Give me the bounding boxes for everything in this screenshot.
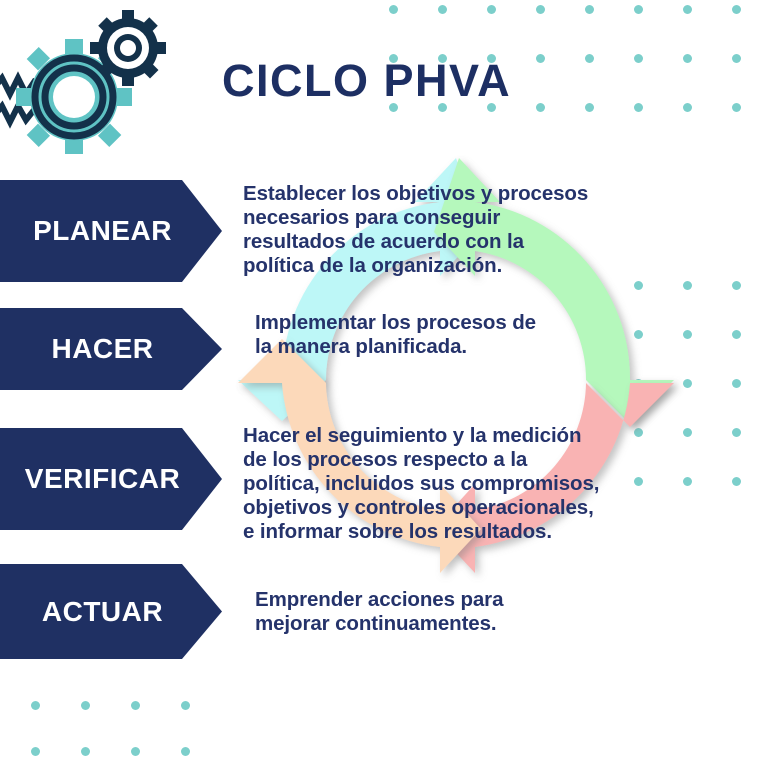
decorative-dot bbox=[634, 54, 643, 63]
decorative-dot bbox=[487, 5, 496, 14]
decorative-dot bbox=[81, 701, 90, 710]
decorative-dot bbox=[536, 54, 545, 63]
decorative-dot bbox=[585, 54, 594, 63]
decorative-dot bbox=[683, 103, 692, 112]
stage-label-hacer: HACER bbox=[0, 333, 205, 365]
decorative-dot bbox=[732, 103, 741, 112]
decorative-dot bbox=[31, 747, 40, 756]
decorative-dot bbox=[732, 54, 741, 63]
stage-banner-planear[interactable]: PLANEAR bbox=[0, 180, 222, 282]
infographic-canvas: CICLO PHVA PLANEAR HACER VERIFICAR ACTUA… bbox=[0, 0, 768, 768]
decorative-dot bbox=[81, 747, 90, 756]
stage-description-verificar: Hacer el seguimiento y la medición de lo… bbox=[243, 424, 599, 544]
decorative-dot bbox=[389, 5, 398, 14]
decorative-dot bbox=[683, 5, 692, 14]
stage-description-planear: Establecer los objetivos y procesos nece… bbox=[243, 182, 588, 278]
dot-grid-bottom-left bbox=[31, 701, 231, 768]
stage-label-planear: PLANEAR bbox=[0, 215, 205, 247]
gears-logo bbox=[0, 4, 179, 154]
decorative-dot bbox=[536, 103, 545, 112]
decorative-dot bbox=[585, 5, 594, 14]
decorative-dot bbox=[181, 747, 190, 756]
decorative-dot bbox=[732, 5, 741, 14]
decorative-dot bbox=[536, 5, 545, 14]
decorative-dot bbox=[732, 428, 741, 437]
decorative-dot bbox=[732, 330, 741, 339]
stage-description-actuar: Emprender acciones para mejorar continua… bbox=[255, 588, 503, 636]
decorative-dot bbox=[732, 281, 741, 290]
decorative-dot bbox=[683, 54, 692, 63]
decorative-dot bbox=[31, 701, 40, 710]
decorative-dot bbox=[634, 5, 643, 14]
decorative-dot bbox=[438, 5, 447, 14]
page-title: CICLO PHVA bbox=[222, 58, 511, 103]
stage-banner-hacer[interactable]: HACER bbox=[0, 308, 222, 390]
decorative-dot bbox=[585, 103, 594, 112]
decorative-dot bbox=[634, 103, 643, 112]
stage-description-hacer: Implementar los procesos de la manera pl… bbox=[255, 311, 536, 359]
decorative-dot bbox=[131, 747, 140, 756]
decorative-dot bbox=[732, 379, 741, 388]
decorative-dot bbox=[181, 701, 190, 710]
stage-label-actuar: ACTUAR bbox=[0, 596, 205, 628]
stage-banner-actuar[interactable]: ACTUAR bbox=[0, 564, 222, 659]
decorative-dot bbox=[732, 477, 741, 486]
decorative-dot bbox=[131, 701, 140, 710]
stage-label-verificar: VERIFICAR bbox=[0, 463, 205, 495]
stage-banner-verificar[interactable]: VERIFICAR bbox=[0, 428, 222, 530]
